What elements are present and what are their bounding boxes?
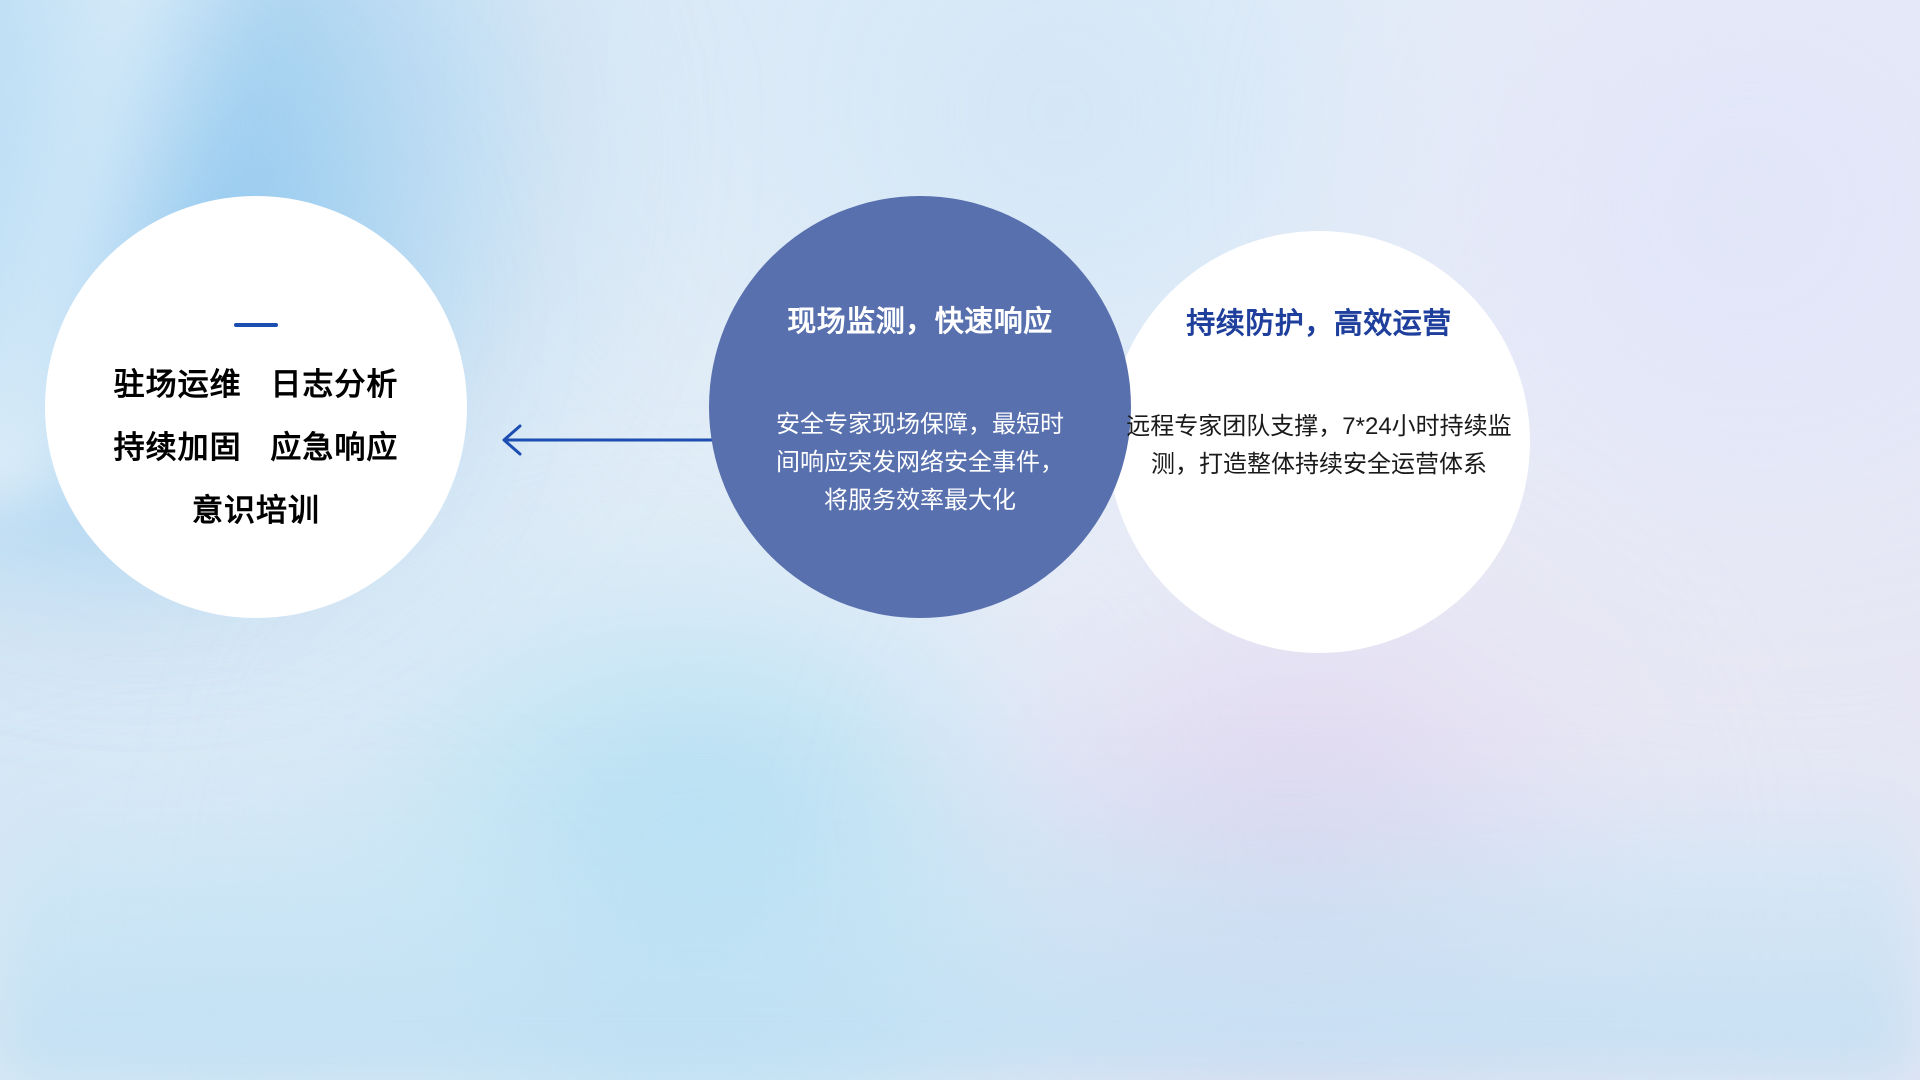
onsite-monitoring-circle[interactable] [709, 196, 1131, 618]
slide-canvas: 驻场运维 日志分析 持续加固 应急响应 意识培训 现场监测，快速响应 安全专家现… [0, 0, 1920, 1080]
service-capabilities-circle[interactable] [45, 196, 467, 618]
continuous-protection-circle[interactable] [1108, 231, 1530, 653]
